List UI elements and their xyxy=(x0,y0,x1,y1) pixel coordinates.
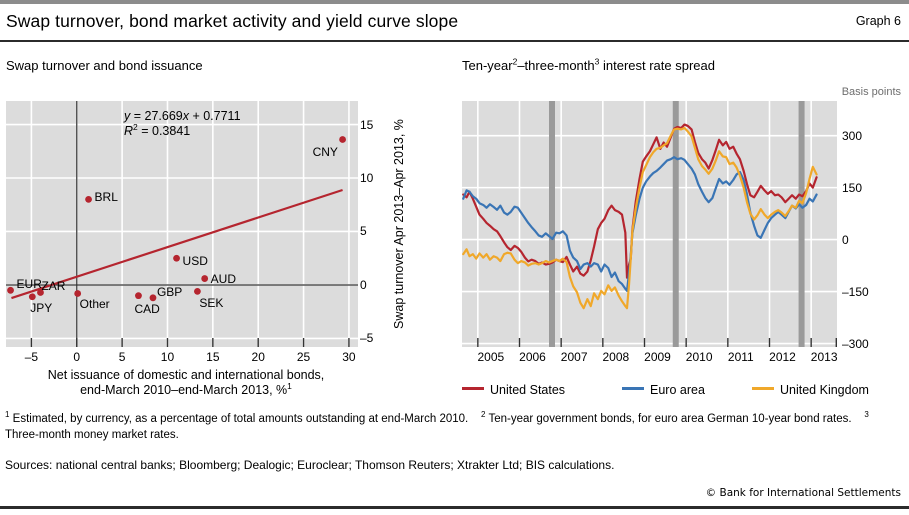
right-title-part3: interest rate spread xyxy=(599,58,715,73)
x-caption-line1: Net issuance of domestic and internation… xyxy=(48,368,325,382)
scatter-point-label-brl: BRL xyxy=(95,190,118,204)
sources-line: Sources: national central banks; Bloombe… xyxy=(5,458,904,472)
scatter-x-tick: 25 xyxy=(297,350,310,364)
scatter-x-tick: 15 xyxy=(206,350,219,364)
spread-x-tick-labels: 200520062007200820092010201120122013 xyxy=(462,350,837,368)
scatter-point-label-jpy: JPY xyxy=(30,301,52,315)
spread-series-line xyxy=(463,128,816,308)
scatter-point-label-sek: SEK xyxy=(199,296,223,310)
right-panel-title: Ten-year2–three-month3 interest rate spr… xyxy=(462,58,715,73)
spread-x-tick: 2010 xyxy=(686,350,713,364)
scatter-point xyxy=(7,287,14,294)
graph-page: Swap turnover, bond market activity and … xyxy=(0,0,909,515)
title-divider xyxy=(0,40,909,42)
spread-x-tick: 2006 xyxy=(519,350,546,364)
scatter-x-tick: 30 xyxy=(342,350,355,364)
scatter-point-label-eur: EUR xyxy=(17,277,42,291)
scatter-point xyxy=(150,294,157,301)
spread-chart-canvas xyxy=(462,101,837,347)
copyright-line: © Bank for International Settlements xyxy=(706,487,901,499)
scatter-x-tick-labels: –5051015202530 xyxy=(6,350,358,368)
legend-swatch xyxy=(462,387,484,390)
scatter-y-tick: –5 xyxy=(360,331,373,345)
scatter-point-label-cny: CNY xyxy=(313,145,338,159)
spread-y-tick: 0 xyxy=(842,233,849,247)
header: Swap turnover, bond market activity and … xyxy=(0,6,909,38)
scatter-y-tick: 10 xyxy=(360,171,373,185)
scatter-point xyxy=(85,196,92,203)
spread-highlight-band xyxy=(799,101,805,347)
scatter-point xyxy=(339,136,346,143)
scatter-point-label-cad: CAD xyxy=(134,302,159,316)
scatter-x-tick: 20 xyxy=(252,350,265,364)
legend-item-united-states: United States xyxy=(462,381,565,399)
footnote-marker-1: 1 xyxy=(5,410,9,419)
scatter-y-tick: 0 xyxy=(360,278,367,292)
scatter-point xyxy=(194,288,201,295)
scatter-y-axis-title: Swap turnover Apr 2013–Apr 2013, % xyxy=(390,101,408,347)
legend-item-united-kingdom: United Kingdom xyxy=(752,381,869,399)
scatter-point-label-other: Other xyxy=(80,297,110,311)
scatter-point-label-usd: USD xyxy=(183,254,208,268)
footnote-text-2: Ten-year government bonds, for euro area… xyxy=(488,413,851,425)
left-panel-title: Swap turnover and bond issuance xyxy=(6,58,203,73)
graph-number: Graph 6 xyxy=(856,14,901,28)
right-title-part1: Ten-year xyxy=(462,58,513,73)
scatter-x-axis-caption: Net issuance of domestic and internation… xyxy=(6,368,366,398)
right-title-part2: –three-month xyxy=(517,58,594,73)
footnotes: 1 Estimated, by currency, as a percentag… xyxy=(5,412,904,443)
scatter-x-tick: 5 xyxy=(119,350,126,364)
legend-label: Euro area xyxy=(650,383,705,397)
spread-x-tick: 2011 xyxy=(728,350,754,364)
scatter-x-tick: 10 xyxy=(161,350,174,364)
spread-y-tick: 150 xyxy=(842,181,862,195)
legend-item-euro-area: Euro area xyxy=(622,381,705,399)
scatter-point xyxy=(135,292,142,299)
footnote-marker-2: 2 xyxy=(481,410,485,419)
footnote-ref-1: 1 xyxy=(287,381,292,391)
scatter-x-tick: 0 xyxy=(73,350,80,364)
scatter-y-tick: 5 xyxy=(360,224,367,238)
r-squared-line: R2 = 0.3841 xyxy=(124,124,190,138)
spread-line-chart xyxy=(462,101,837,347)
scatter-plot: EURZARJPYOtherCADGBPUSDAUDSEKBRLCNYy = 2… xyxy=(6,101,358,347)
x-caption-line2: end-March 2010–end-March 2013, % xyxy=(80,383,287,397)
right-units-label: Basis points xyxy=(842,86,901,98)
scatter-point-label-aud: AUD xyxy=(211,272,236,286)
spread-y-tick: –150 xyxy=(842,285,869,299)
spread-x-tick: 2008 xyxy=(602,350,629,364)
legend-label: United States xyxy=(490,383,565,397)
footnote-text-1: Estimated, by currency, as a percentage … xyxy=(13,413,469,425)
legend-swatch xyxy=(752,387,774,390)
legend-label: United Kingdom xyxy=(780,383,869,397)
spread-x-tick: 2013 xyxy=(811,350,838,364)
spread-x-tick: 2012 xyxy=(769,350,796,364)
spread-x-tick: 2009 xyxy=(644,350,671,364)
top-divider xyxy=(0,0,909,4)
spread-y-tick: 300 xyxy=(842,129,862,143)
scatter-y-tick: 15 xyxy=(360,118,373,132)
spread-y-tick: –300 xyxy=(842,337,869,351)
spread-x-tick: 2007 xyxy=(561,350,588,364)
equation-line: y = 27.669x + 0.7711 xyxy=(124,109,241,123)
legend-swatch xyxy=(622,387,644,390)
spread-highlight-band xyxy=(673,101,679,347)
page-title: Swap turnover, bond market activity and … xyxy=(6,11,458,32)
scatter-point xyxy=(29,293,36,300)
scatter-point xyxy=(201,275,208,282)
scatter-point xyxy=(173,255,180,262)
bottom-divider xyxy=(0,506,909,509)
scatter-point-label-zar: ZAR xyxy=(41,279,65,293)
scatter-point-label-gbp: GBP xyxy=(157,285,182,299)
spread-x-tick: 2005 xyxy=(477,350,504,364)
chart-legend: United StatesEuro areaUnited Kingdom xyxy=(462,381,902,399)
footnote-text-3: Three-month money market rates. xyxy=(5,429,179,441)
spread-y-tick-labels: 3001500–150–300 xyxy=(838,101,898,347)
spread-highlight-band xyxy=(549,101,555,347)
scatter-x-tick: –5 xyxy=(25,350,38,364)
footnote-marker-3: 3 xyxy=(864,410,868,419)
regression-equation: y = 27.669x + 0.7711R2 = 0.3841 xyxy=(124,109,241,139)
